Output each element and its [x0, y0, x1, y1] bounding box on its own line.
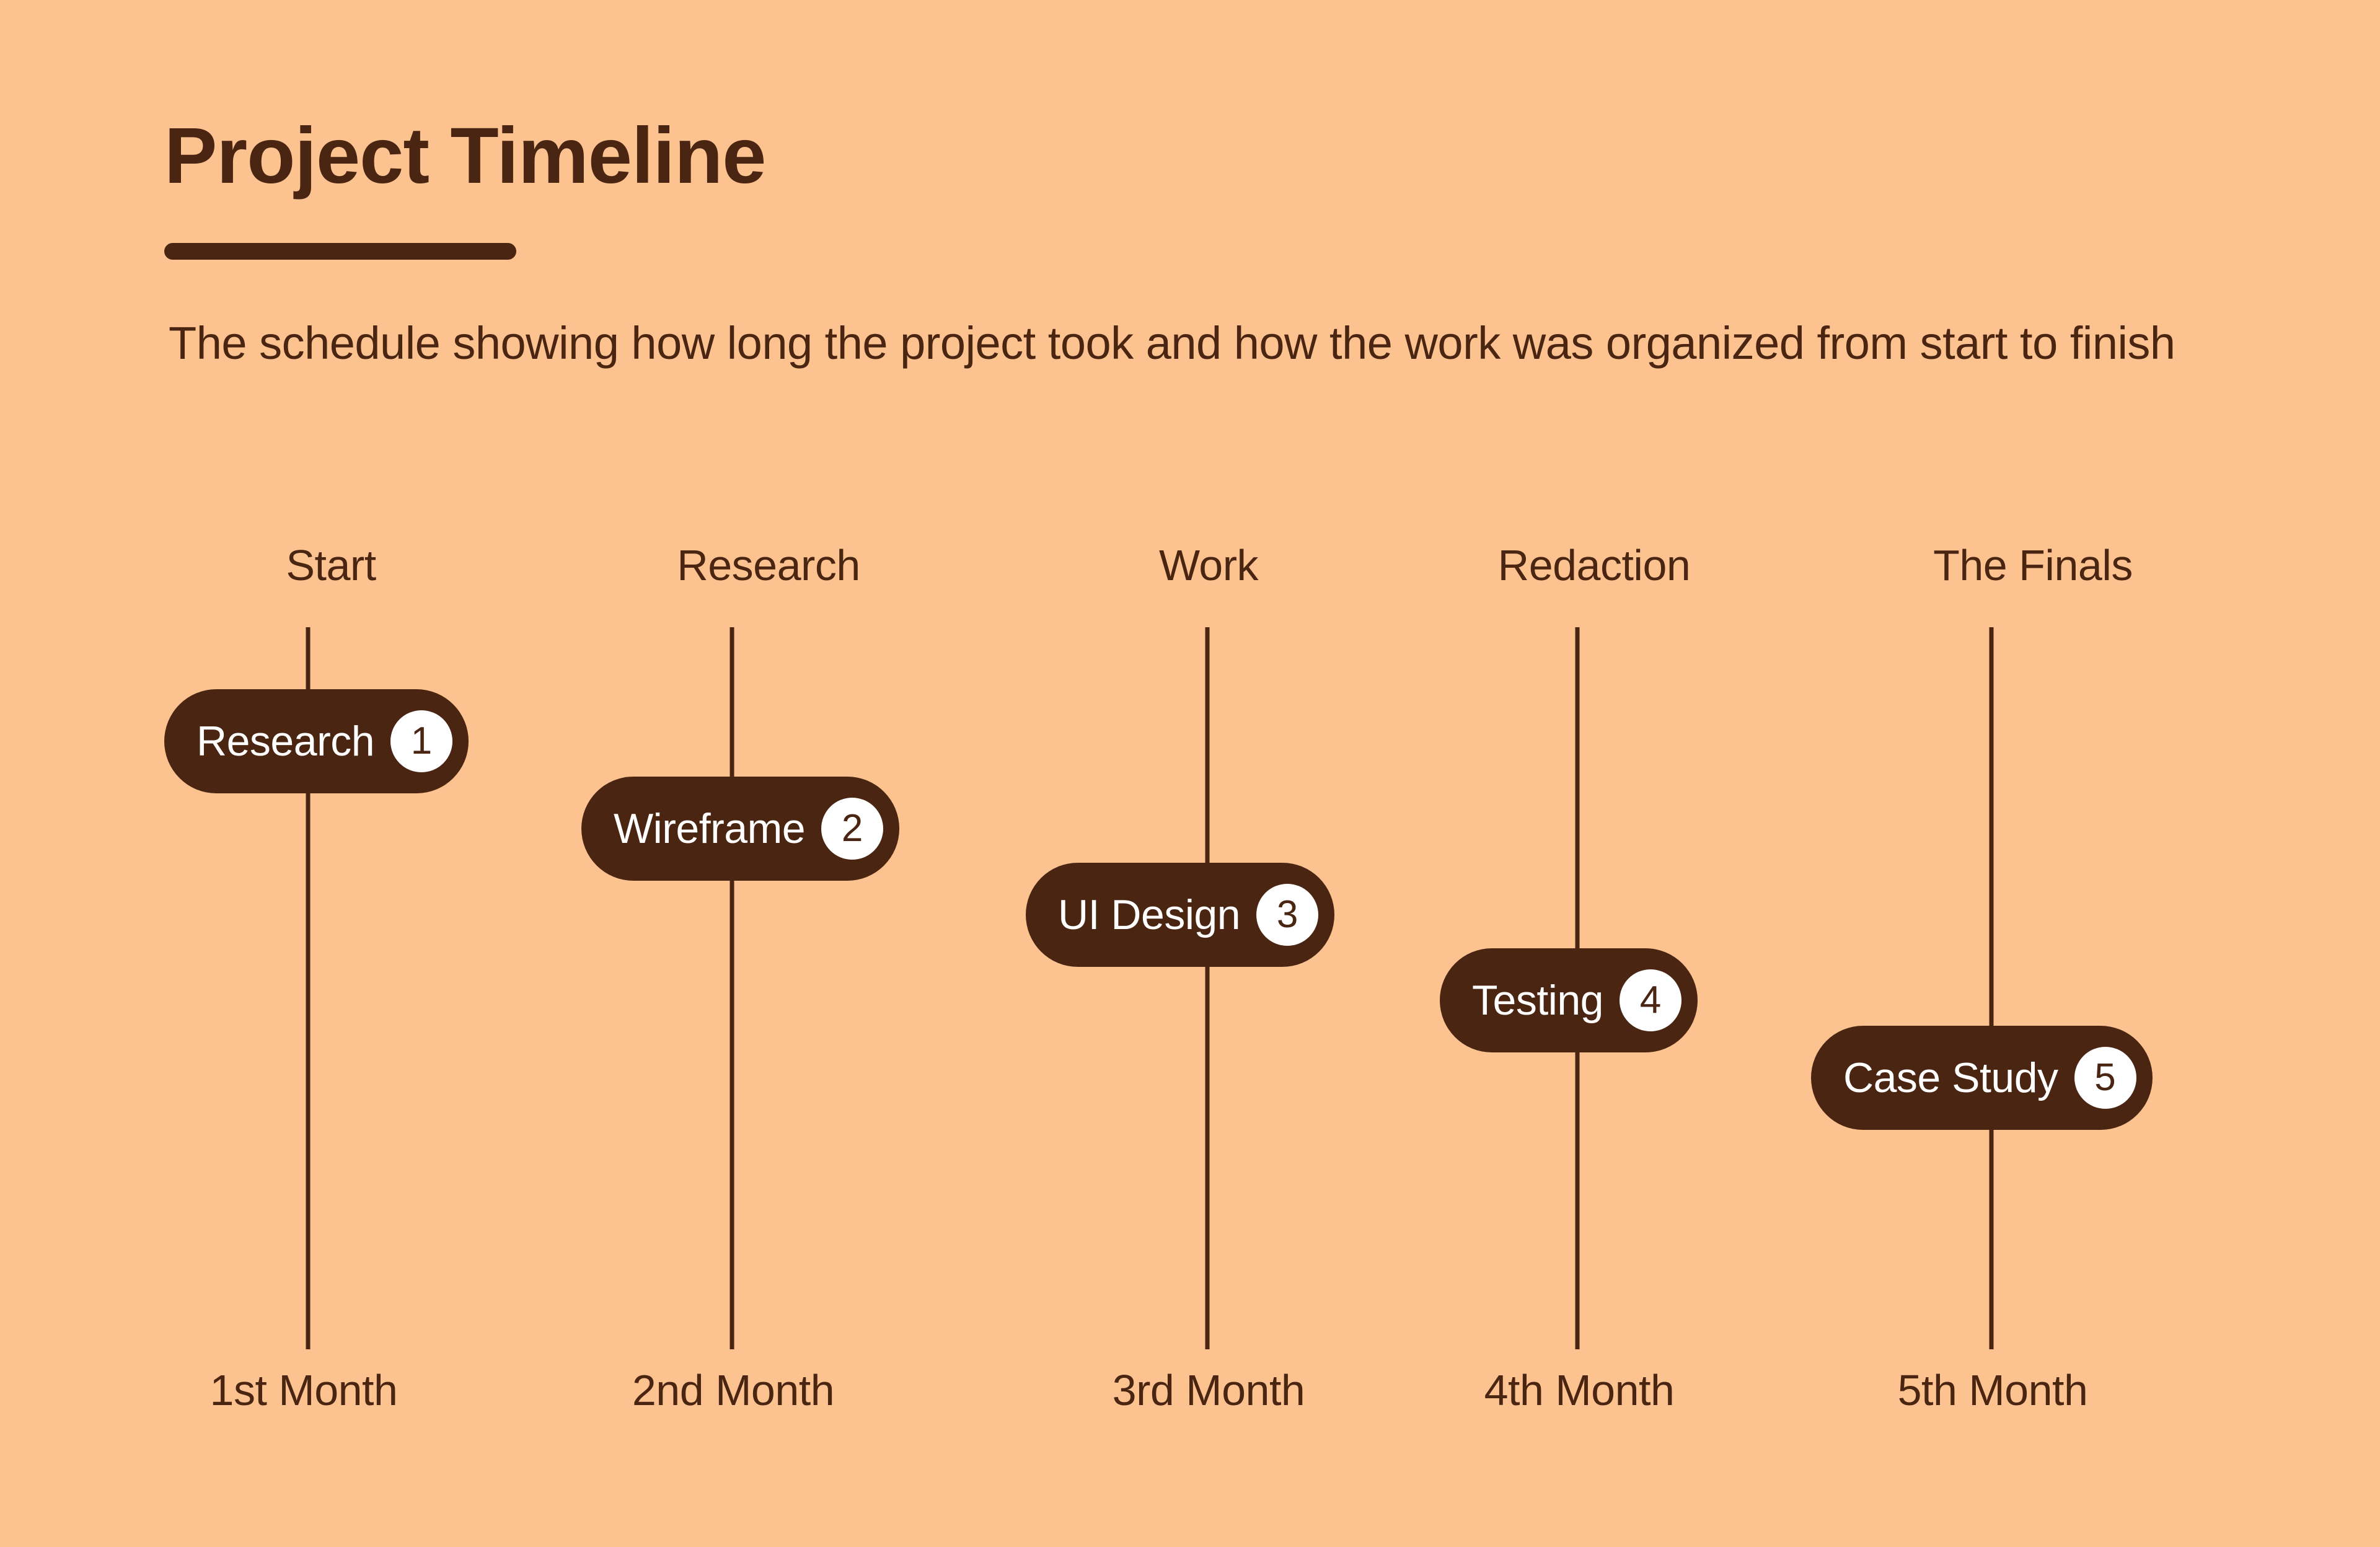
task-pill-label: Research: [196, 720, 374, 762]
month-label-4: 4th Month: [1484, 1365, 1675, 1415]
timeline-infographic: Project Timeline The schedule showing ho…: [0, 0, 2380, 1547]
task-pill-step-badge: 2: [821, 798, 883, 860]
stage-label-work: Work: [1159, 540, 1258, 590]
task-pill-case-study[interactable]: Case Study 5: [1811, 1026, 2153, 1130]
stage-label-research: Research: [677, 540, 860, 590]
axis-line-month-3: [1205, 627, 1210, 1349]
task-pill-step-badge: 3: [1256, 884, 1318, 946]
page-title: Project Timeline: [164, 115, 765, 198]
task-pill-testing[interactable]: Testing 4: [1440, 948, 1698, 1052]
month-label-1: 1st Month: [210, 1365, 398, 1415]
task-pill-step-badge: 5: [2074, 1047, 2136, 1109]
task-pill-ui-design[interactable]: UI Design 3: [1026, 863, 1334, 967]
axis-line-month-2: [730, 627, 734, 1349]
page-subtitle: The schedule showing how long the projec…: [169, 313, 2226, 374]
stage-label-redaction: Redaction: [1498, 540, 1691, 590]
task-pill-label: Testing: [1472, 979, 1603, 1021]
stage-label-start: Start: [286, 540, 376, 590]
task-pill-step-badge: 1: [390, 710, 452, 772]
task-pill-label: Case Study: [1843, 1057, 2058, 1099]
month-label-5: 5th Month: [1898, 1365, 2088, 1415]
month-label-2: 2nd Month: [632, 1365, 834, 1415]
axis-line-month-5: [1990, 627, 1994, 1349]
task-pill-step-badge: 4: [1620, 969, 1681, 1031]
task-pill-label: Wireframe: [614, 808, 805, 850]
title-underline-rule: [164, 243, 516, 260]
stage-label-the-finals: The Finals: [1933, 540, 2133, 590]
task-pill-wireframe[interactable]: Wireframe 2: [581, 777, 899, 881]
task-pill-label: UI Design: [1058, 894, 1240, 936]
month-label-3: 3rd Month: [1113, 1365, 1305, 1415]
task-pill-research[interactable]: Research 1: [164, 689, 469, 793]
